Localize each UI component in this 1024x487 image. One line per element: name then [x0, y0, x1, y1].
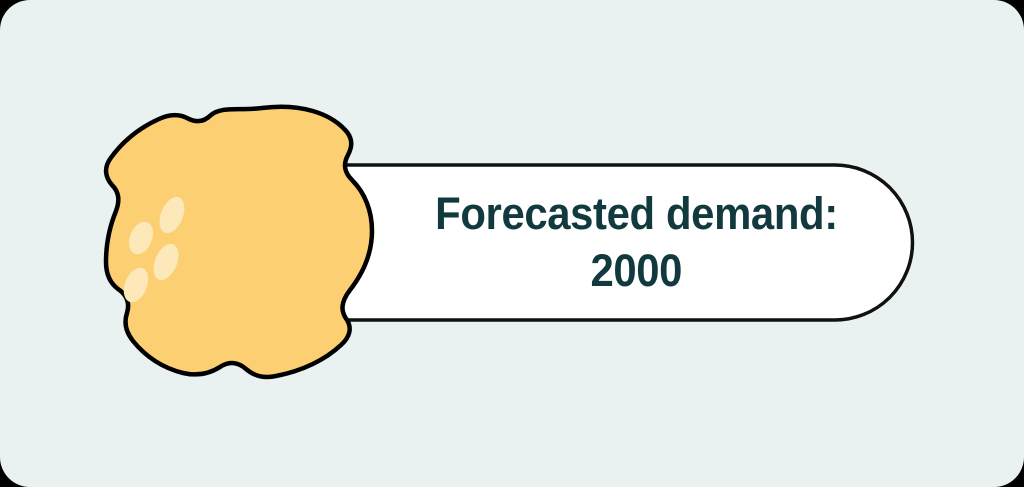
forecast-pill — [300, 165, 913, 320]
pill-body — [300, 165, 913, 320]
lemon-forecast-illustration — [0, 0, 1024, 487]
lemon-icon — [106, 107, 372, 377]
illustration-canvas: Forecasted demand: 2000 — [0, 0, 1024, 487]
